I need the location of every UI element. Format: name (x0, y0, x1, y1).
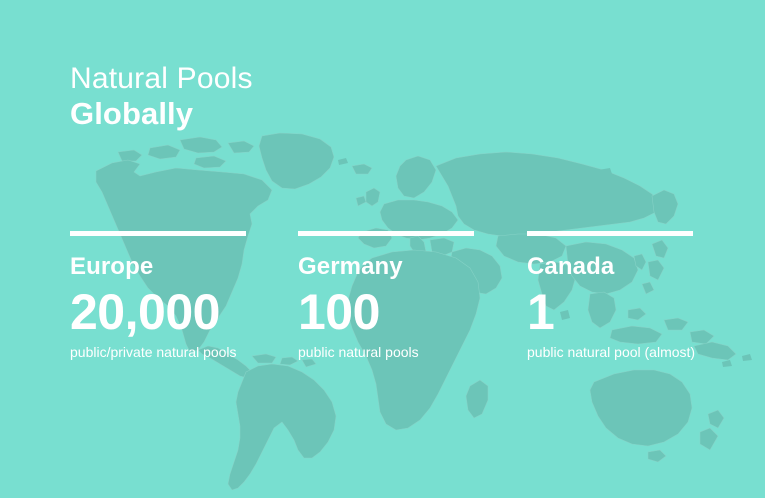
title-line-primary: Natural Pools (70, 62, 253, 96)
stat-column-germany: Germany 100 public natural pools (298, 231, 526, 360)
stat-region-label: Europe (70, 253, 298, 280)
title-line-secondary: Globally (70, 96, 253, 132)
stat-caption: public natural pools (298, 344, 470, 360)
stat-caption: public natural pool (almost) (527, 344, 699, 360)
stat-divider-rule (298, 231, 474, 236)
stat-divider-rule (70, 231, 246, 236)
stat-caption: public/private natural pools (70, 344, 242, 360)
infographic-poster: Natural Pools Globally Europe 20,000 pub… (0, 0, 765, 498)
stat-region-label: Germany (298, 253, 526, 280)
stat-column-canada: Canada 1 public natural pool (almost) (527, 231, 755, 360)
statistics-row: Europe 20,000 public/private natural poo… (0, 231, 765, 411)
stat-value: 100 (298, 284, 526, 340)
stat-column-europe: Europe 20,000 public/private natural poo… (70, 231, 298, 360)
stat-divider-rule (527, 231, 693, 236)
page-title: Natural Pools Globally (70, 62, 253, 132)
stat-value: 1 (527, 284, 755, 340)
stat-value: 20,000 (70, 284, 298, 340)
stat-region-label: Canada (527, 253, 755, 280)
